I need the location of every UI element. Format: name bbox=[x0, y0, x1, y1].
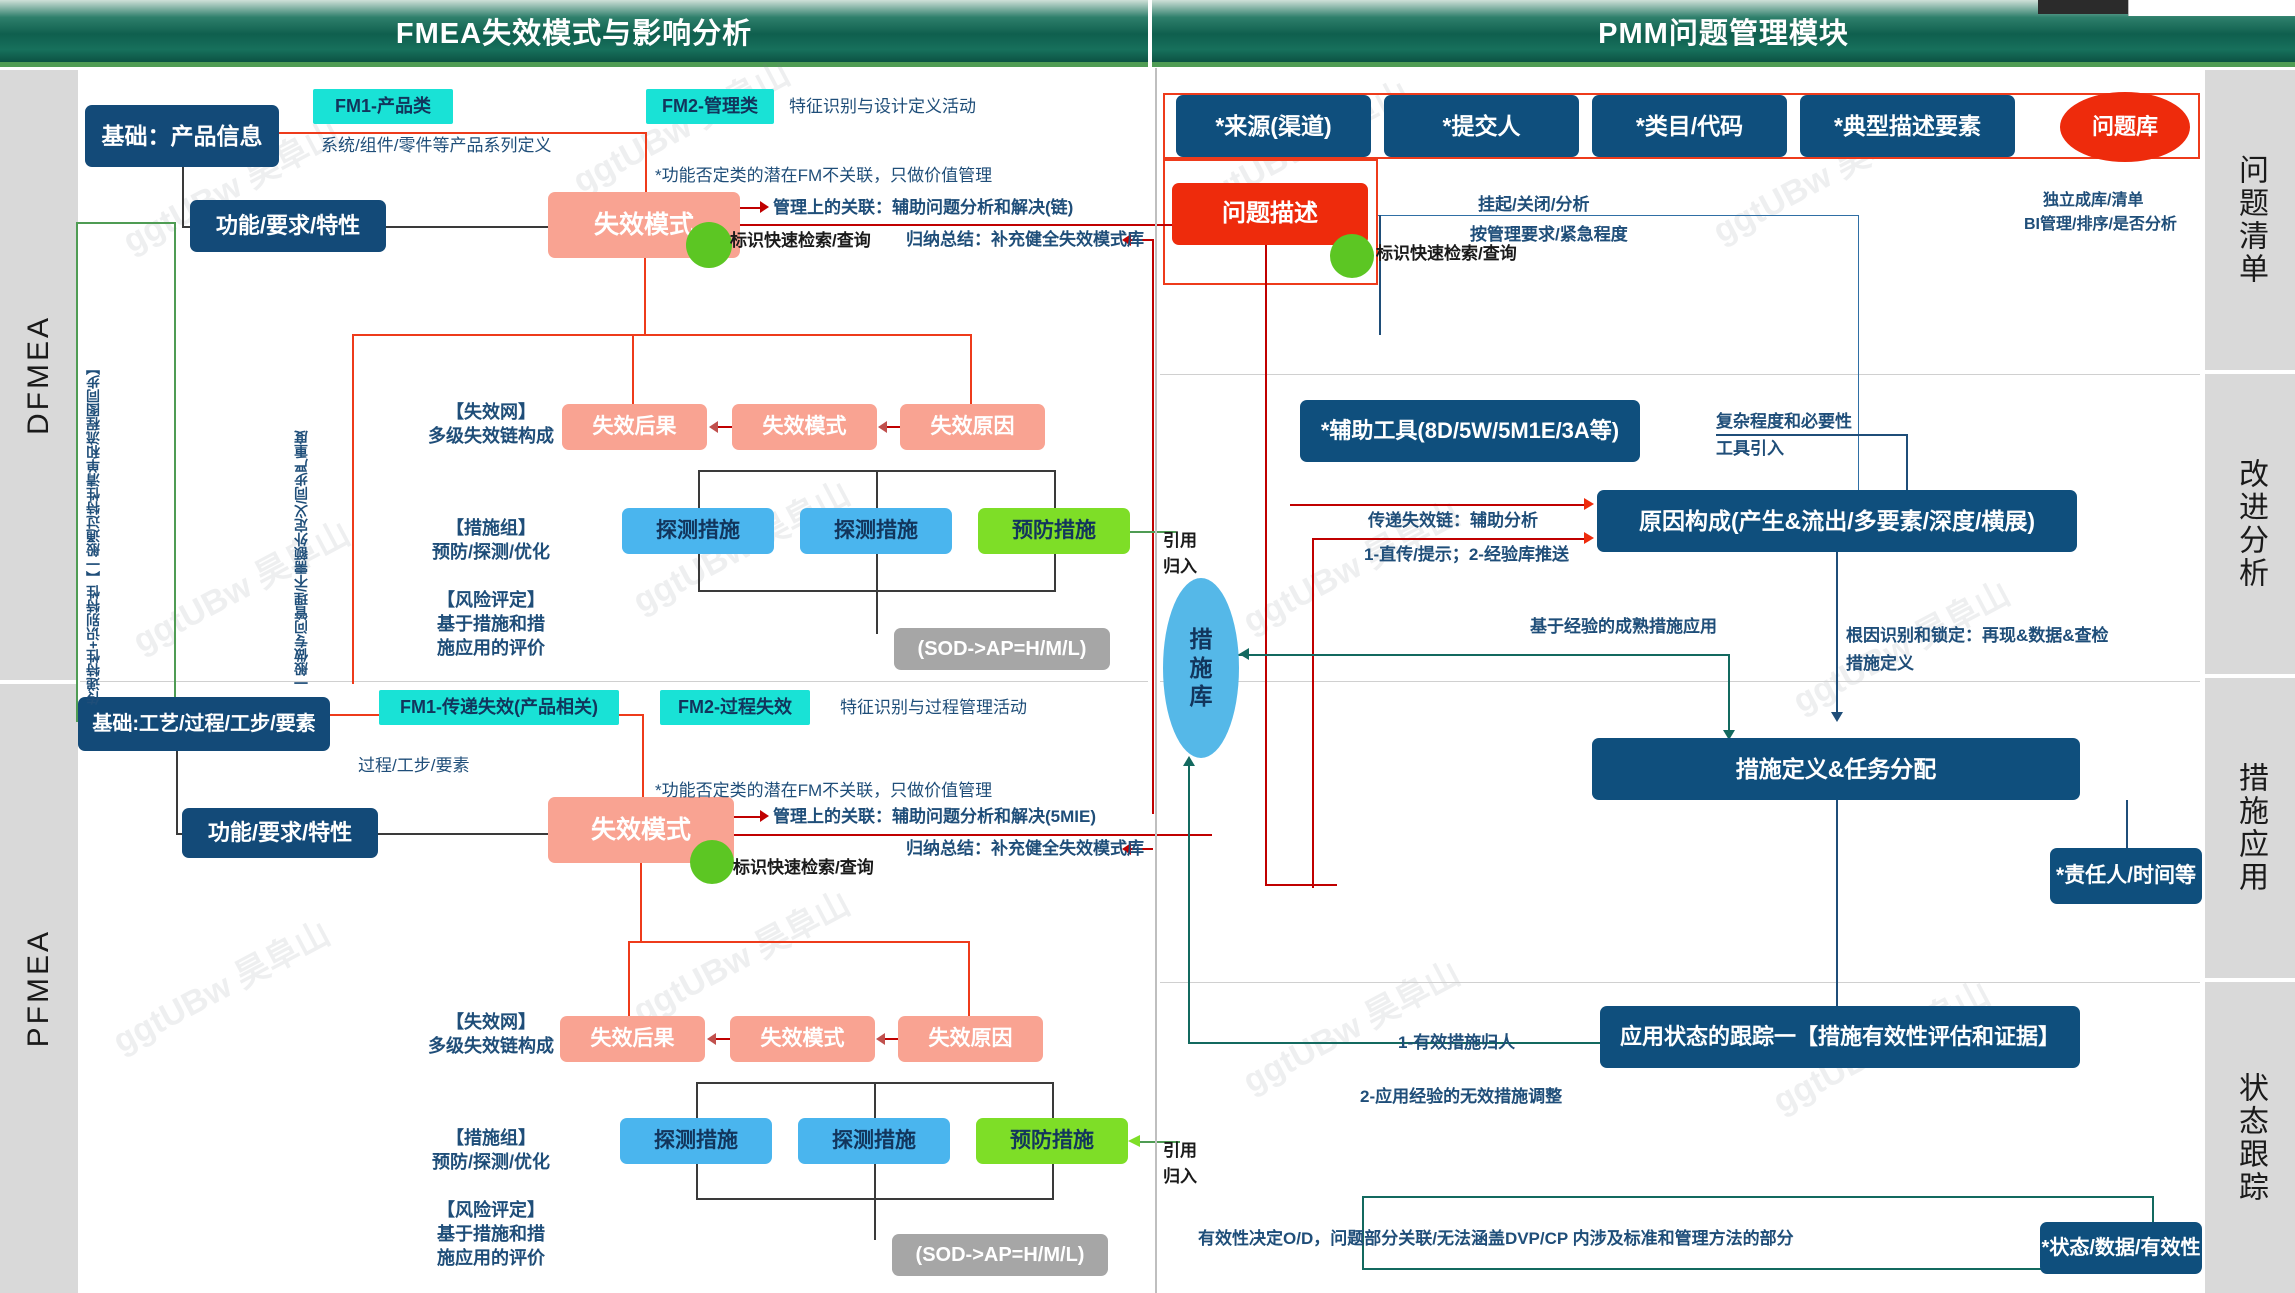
pfmea-base-process-box[interactable]: 基础:工艺/过程/工步/要素 bbox=[78, 697, 330, 751]
dfmea-mode-to-effect-arrow bbox=[709, 421, 718, 433]
pfmea-cause-box[interactable]: 失效原因 bbox=[898, 1016, 1043, 1062]
prevent-to-library-arrowhead-bottom bbox=[1128, 1135, 1140, 1147]
pmm-action-define-box[interactable]: 措施定义&任务分配 bbox=[1592, 738, 2080, 800]
dfmea-bus-v-cause bbox=[970, 334, 972, 406]
pmm-field-category[interactable]: *类目/代码 bbox=[1592, 95, 1787, 157]
dfmea-m1-v bbox=[698, 470, 700, 508]
action-library-ellipse[interactable]: 措 施 库 bbox=[1163, 578, 1239, 758]
pfmea-sod-box[interactable]: (SOD->AP=H/M/L) bbox=[892, 1234, 1108, 1276]
action-library-label: 措 施 库 bbox=[1190, 625, 1213, 711]
pfmea-mode-to-effect-line bbox=[715, 1038, 731, 1040]
pmm-problem-red-bus-h bbox=[1265, 884, 1337, 886]
rail-pfmea: PFMEA bbox=[0, 684, 78, 1293]
pmm-cause-down-arrowhead bbox=[1831, 712, 1843, 722]
dfmea-tag-fm2: FM2-管理类 bbox=[646, 89, 774, 124]
dfmea-failure-net-title: 【失效网】 bbox=[406, 400, 576, 424]
dfmea-risk-title: 【风险评定】 bbox=[406, 588, 576, 612]
dfmea-note-summary: 归纳总结：补充健全失效模式库 bbox=[906, 229, 1144, 252]
pmm-note-bi: BI管理/排序/是否分析 bbox=[2024, 214, 2177, 236]
pmm-field-submitter[interactable]: *提交人 bbox=[1384, 95, 1579, 157]
pmm-note-rootcause-1: 根因识别和锁定：再现&数据&查检 bbox=[1846, 625, 2109, 648]
pmm-note-quick-search: 标识快速检索/查询 bbox=[1376, 243, 1517, 266]
dfmea-risk-sub1: 基于措施和措 bbox=[406, 612, 576, 636]
section-divider-right bbox=[1160, 681, 2200, 682]
action-library-own-top: 归入 bbox=[1163, 556, 1197, 579]
rail-action-application: 措施应用 bbox=[2205, 678, 2295, 978]
pfmea-note-series: 过程/工步/要素 bbox=[358, 755, 469, 778]
pmm-valid-owner-v bbox=[1188, 870, 1190, 1042]
connector-function-to-mode-h bbox=[386, 226, 550, 228]
action-library-ref-top: 引用 bbox=[1163, 530, 1197, 553]
dfmea-to-sod bbox=[876, 590, 878, 634]
pfmea-mgmt-underline bbox=[726, 834, 1212, 836]
pmm-quick-search-dot bbox=[1330, 234, 1374, 278]
pfmea-m3-down bbox=[1052, 1164, 1054, 1198]
dfmea-mgmt-link-arrowhead bbox=[760, 201, 769, 213]
pmm-cause-composition-box[interactable]: 原因构成(产生&流出/多要素/深度/横展) bbox=[1597, 490, 2077, 552]
pmm-note-independent: 独立成库/清单 bbox=[2043, 190, 2143, 212]
pfmea-mgmt-link-arrowhead bbox=[760, 810, 769, 822]
dfmea-measure-group-sub: 预防/探测/优化 bbox=[406, 540, 576, 564]
pmm-action-to-status-v bbox=[1836, 800, 1838, 1006]
pmm-note-effect-decide: 有效性决定O/D，问题部分关联/无法涵盖DVP/CP 内涉及标准和管理方法的部分 bbox=[1198, 1228, 1794, 1251]
pmm-action-to-owner-v bbox=[2126, 800, 2128, 848]
connector-base-red-v bbox=[645, 132, 647, 194]
dfmea-tag-fm1: FM1-产品类 bbox=[313, 89, 453, 124]
dfmea-m1-down bbox=[698, 554, 700, 590]
pfmea-measure-group-title: 【措施组】 bbox=[406, 1126, 576, 1150]
pfmea-prevent-measure[interactable]: 预防措施 bbox=[976, 1118, 1128, 1164]
rail-pfmea-label: PFMEA bbox=[22, 929, 56, 1047]
pfmea-bus-v-cause bbox=[968, 941, 970, 1019]
connector-base-to-function-v bbox=[182, 167, 184, 226]
pfmea-detect-measure-1[interactable]: 探测措施 bbox=[620, 1118, 772, 1164]
pfmea-measure-group-sub: 预防/探测/优化 bbox=[406, 1150, 576, 1174]
pmm-note-push: 1-直传/提示；2-经验库推送 bbox=[1364, 544, 1569, 567]
left-header-rule bbox=[0, 62, 1148, 67]
rail-improvement-analysis-label: 改进分析 bbox=[2228, 458, 2272, 590]
dfmea-quick-search-dot bbox=[686, 222, 732, 268]
pfmea-risk-title: 【风险评定】 bbox=[406, 1198, 576, 1222]
pmm-problem-red-bus-v bbox=[1265, 245, 1267, 885]
dfmea-m2-down bbox=[876, 554, 878, 590]
rail-improvement-analysis: 改进分析 bbox=[2205, 374, 2295, 674]
pfmea-mode-box[interactable]: 失效模式 bbox=[730, 1016, 875, 1062]
pmm-problem-description-box[interactable]: 问题描述 bbox=[1172, 183, 1368, 245]
action-library-left-arrowhead bbox=[1239, 648, 1249, 660]
pfmea-base-to-function-v bbox=[176, 751, 178, 833]
dfmea-note-quick-search: 标识快速检索/查询 bbox=[730, 230, 871, 253]
pmm-status-data-box[interactable]: *状态/数据/有效性 bbox=[2040, 1222, 2202, 1274]
dfmea-note-series: 系统/组件/零件等产品系列定义 bbox=[321, 135, 551, 158]
pfmea-note-quick-search: 标识快速检索/查询 bbox=[733, 857, 874, 880]
pfmea-function-to-mode-h bbox=[378, 833, 550, 835]
pfmea-m-bus bbox=[696, 1082, 1054, 1084]
dfmea-prevent-measure[interactable]: 预防措施 bbox=[978, 508, 1130, 554]
pfmea-bus-v-mode bbox=[640, 863, 642, 941]
pfmea-cause-to-mode-arrow bbox=[876, 1033, 885, 1045]
dfmea-function-requirement-box[interactable]: 功能/要求/特性 bbox=[190, 200, 386, 252]
pmm-note-invalid-adjust: 2-应用经验的无效措施调整 bbox=[1360, 1086, 1562, 1109]
rail-dfmea-label: DFMEA bbox=[22, 315, 56, 435]
dfmea-cause-box[interactable]: 失效原因 bbox=[900, 404, 1045, 450]
pmm-aux-tools-box[interactable]: *辅助工具(8D/5W/5M1E/3A等) bbox=[1300, 400, 1640, 462]
dfmea-note-fm-negate: *功能否定类的潜在FM不关联，只做价值管理 bbox=[655, 165, 992, 188]
dfmea-sod-box[interactable]: (SOD->AP=H/M/L) bbox=[894, 628, 1110, 670]
dfmea-m2-v bbox=[876, 470, 878, 508]
pfmea-bus-v-left bbox=[628, 941, 630, 1019]
dfmea-summary-line-v bbox=[1152, 239, 1154, 814]
rail-status-tracking: 状态跟踪 bbox=[2205, 982, 2295, 1293]
pmm-push-arrowhead bbox=[1584, 532, 1594, 544]
dfmea-vertical-severity-note: 一般做专问管理/不需额外定义/同步严重度 bbox=[292, 290, 311, 690]
rail-dfmea: DFMEA bbox=[0, 70, 78, 680]
pfmea-quick-search-dot bbox=[690, 840, 734, 884]
pfmea-m2-v bbox=[874, 1082, 876, 1118]
left-panel-header: FMEA失效模式与影响分析 bbox=[0, 0, 1148, 62]
pfmea-bus-h bbox=[628, 941, 968, 943]
pmm-mature-v bbox=[1728, 654, 1730, 730]
dfmea-bus-v-effect bbox=[632, 334, 634, 406]
pfmea-to-sod bbox=[874, 1198, 876, 1240]
pfmea-base-red-v bbox=[642, 714, 644, 798]
pfmea-risk-sub2: 施应用的评价 bbox=[406, 1246, 576, 1270]
pmm-mature-h bbox=[1188, 654, 1730, 656]
pfmea-m3-v bbox=[1052, 1082, 1054, 1118]
rail-problem-list-label: 问题清单 bbox=[2228, 154, 2272, 286]
dfmea-risk-sub2: 施应用的评价 bbox=[406, 636, 576, 660]
pmm-note-complexity: 复杂程度和必要性 bbox=[1716, 411, 1852, 434]
action-library-up-arrowhead bbox=[1183, 756, 1195, 766]
pmm-panel-left-border bbox=[1155, 68, 1157, 1293]
pmm-note-rootcause-2: 措施定义 bbox=[1846, 653, 1914, 676]
dfmea-m-bus bbox=[698, 470, 1056, 472]
pmm-push-v bbox=[1312, 538, 1314, 888]
pfmea-m2-down bbox=[874, 1164, 876, 1198]
pfmea-m1-v bbox=[696, 1082, 698, 1118]
window-corner-dark bbox=[2038, 0, 2128, 14]
rail-action-application-label: 措施应用 bbox=[2228, 762, 2272, 894]
pmm-note-valid-owner: 1-有效措施归人 bbox=[1398, 1032, 1515, 1055]
pfmea-note-summary: 归纳总结：补充健全失效模式库 bbox=[906, 838, 1144, 861]
pmm-note-transfer-chain: 传递失效链：辅助分析 bbox=[1368, 510, 1538, 533]
dfmea-detect-measure-1[interactable]: 探测措施 bbox=[622, 508, 774, 554]
pfmea-mode-to-effect-arrow bbox=[707, 1033, 716, 1045]
action-library-ref-bottom: 引用 bbox=[1163, 1140, 1197, 1163]
dfmea-mgmt-underline bbox=[726, 224, 1212, 226]
action-library-up-v bbox=[1188, 758, 1190, 888]
pmm-note-hang-close: 挂起/关闭/分析 bbox=[1478, 194, 1589, 217]
dfmea-bus-v-left bbox=[352, 334, 354, 684]
pmm-effect-h-top bbox=[1362, 1196, 2152, 1198]
pfmea-note-mgmt-link: 管理上的关联：辅助问题分析和解决(5MIE) bbox=[773, 806, 1096, 829]
watermark: ggtUBw 昊阜山 bbox=[103, 907, 338, 1063]
action-library-own-bottom: 归入 bbox=[1163, 1166, 1197, 1189]
pmm-note-tool-intro: 工具引入 bbox=[1716, 438, 1784, 461]
watermark: ggtUBw 昊阜山 bbox=[1233, 947, 1468, 1103]
pmm-tool-intro-line bbox=[1716, 434, 1908, 436]
connector-base-red-h bbox=[279, 132, 645, 134]
pmm-note-mature: 基于经验的成熟措施应用 bbox=[1530, 616, 1717, 639]
pfmea-risk-sub1: 基于措施和措 bbox=[406, 1222, 576, 1246]
section-divider-right-3 bbox=[1160, 982, 2200, 983]
pmm-transfer-chain-arrowhead bbox=[1584, 498, 1594, 510]
pfmea-note-fm-negate: *功能否定类的潜在FM不关联，只做价值管理 bbox=[655, 780, 992, 803]
pfmea-detect-measure-2[interactable]: 探测措施 bbox=[798, 1118, 950, 1164]
pmm-field-description-element[interactable]: *典型描述要素 bbox=[1800, 95, 2015, 157]
pmm-scope-left-v bbox=[1379, 215, 1381, 335]
dfmea-measure-group-title: 【措施组】 bbox=[406, 516, 576, 540]
dfmea-bus-h-top bbox=[352, 334, 644, 336]
left-panel-title: FMEA失效模式与影响分析 bbox=[396, 10, 752, 52]
pmm-transfer-chain-line bbox=[1290, 504, 1586, 506]
dfmea-detect-measure-2[interactable]: 探测措施 bbox=[800, 508, 952, 554]
dfmea-m3-v bbox=[1054, 470, 1056, 508]
pfmea-m1-down bbox=[696, 1164, 698, 1198]
section-divider-left bbox=[80, 681, 1148, 682]
dfmea-base-product-box[interactable]: 基础：产品信息 bbox=[85, 105, 279, 167]
pmm-owner-time-box[interactable]: *责任人/时间等 bbox=[2050, 848, 2202, 904]
pmm-tool-intro-v bbox=[1906, 434, 1908, 490]
pmm-cause-down-v bbox=[1836, 552, 1838, 712]
dfmea-vertical-characteristic-note: 传递特性+识别特性【一般通过特性清单和流程图同步】 bbox=[84, 235, 103, 705]
dfmea-bus-h-2 bbox=[632, 334, 972, 336]
pfmea-tag-fm1: FM1-传递失效(产品相关) bbox=[379, 690, 619, 725]
right-panel-title: PMM问题管理模块 bbox=[1598, 10, 1849, 52]
dfmea-m3-down bbox=[1054, 554, 1056, 590]
window-corner-light bbox=[2128, 0, 2295, 16]
dfmea-mode-box[interactable]: 失效模式 bbox=[732, 404, 877, 450]
pmm-push-line bbox=[1312, 538, 1586, 540]
pmm-problem-library-button[interactable]: 问题库 bbox=[2060, 92, 2190, 162]
dfmea-failure-net-sub: 多级失效链构成 bbox=[396, 424, 586, 448]
dfmea-note-mgmt-link: 管理上的关联：辅助问题分析和解决(链) bbox=[773, 197, 1073, 220]
dfmea-bus-v-mid bbox=[644, 258, 646, 334]
pfmea-note-feature: 特征识别与过程管理活动 bbox=[840, 697, 1027, 720]
pfmea-failure-net-title: 【失效网】 bbox=[406, 1010, 576, 1034]
dfmea-cause-to-mode-arrow bbox=[878, 421, 887, 433]
watermark: ggtUBw 昊阜山 bbox=[623, 877, 858, 1033]
dfmea-mode-to-effect-line bbox=[717, 426, 733, 428]
pfmea-failure-net-sub: 多级失效链构成 bbox=[396, 1034, 586, 1058]
pmm-status-track-box[interactable]: 应用状态的跟踪一【措施有效性评估和证据】 bbox=[1600, 1006, 2080, 1068]
pmm-effect-h-bottom bbox=[1362, 1268, 2042, 1270]
rail-status-tracking-label: 状态跟踪 bbox=[2228, 1072, 2272, 1204]
pfmea-function-requirement-box[interactable]: 功能/要求/特性 bbox=[182, 808, 378, 858]
right-header-rule bbox=[1152, 62, 2295, 67]
dfmea-note-feature: 特征识别与设计定义活动 bbox=[789, 96, 976, 119]
pmm-field-source[interactable]: *来源(渠道) bbox=[1176, 95, 1371, 157]
pfmea-tag-fm2: FM2-过程失效 bbox=[660, 690, 810, 725]
rail-problem-list: 问题清单 bbox=[2205, 70, 2295, 370]
